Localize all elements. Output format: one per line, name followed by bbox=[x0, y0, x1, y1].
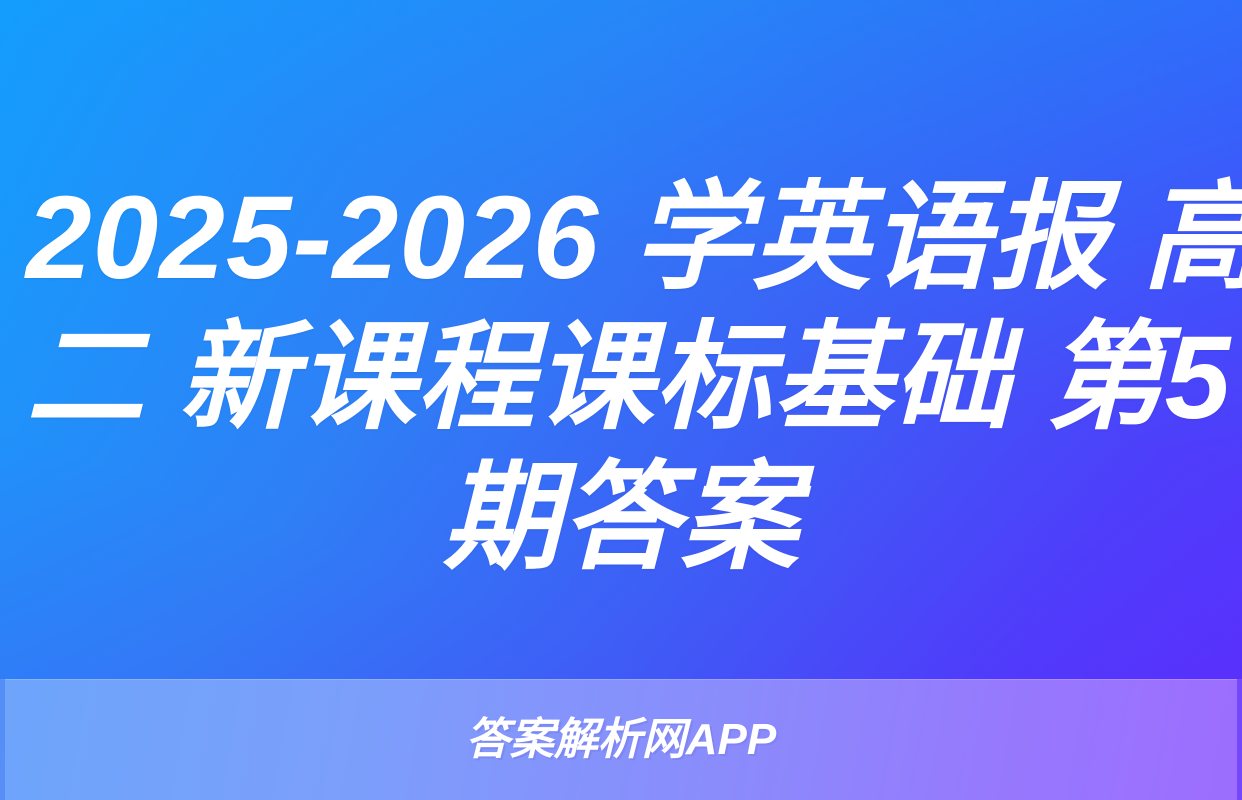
footer-brand-label: 答案解析网APP bbox=[0, 716, 1242, 764]
poster-canvas: 2025-2026 学英语报 高 二 新课程课标基础 第5 期答案 答案解析网A… bbox=[0, 0, 1242, 800]
headline-line-3: 期答案 bbox=[26, 448, 1216, 588]
headline-line-1: 2025-2026 学英语报 高 bbox=[26, 168, 1216, 308]
headline-block: 2025-2026 学英语报 高 二 新课程课标基础 第5 期答案 bbox=[0, 168, 1242, 588]
footer-band: 答案解析网APP bbox=[0, 679, 1242, 800]
headline-line-2: 二 新课程课标基础 第5 bbox=[26, 308, 1216, 448]
footer-divider bbox=[0, 679, 1242, 680]
